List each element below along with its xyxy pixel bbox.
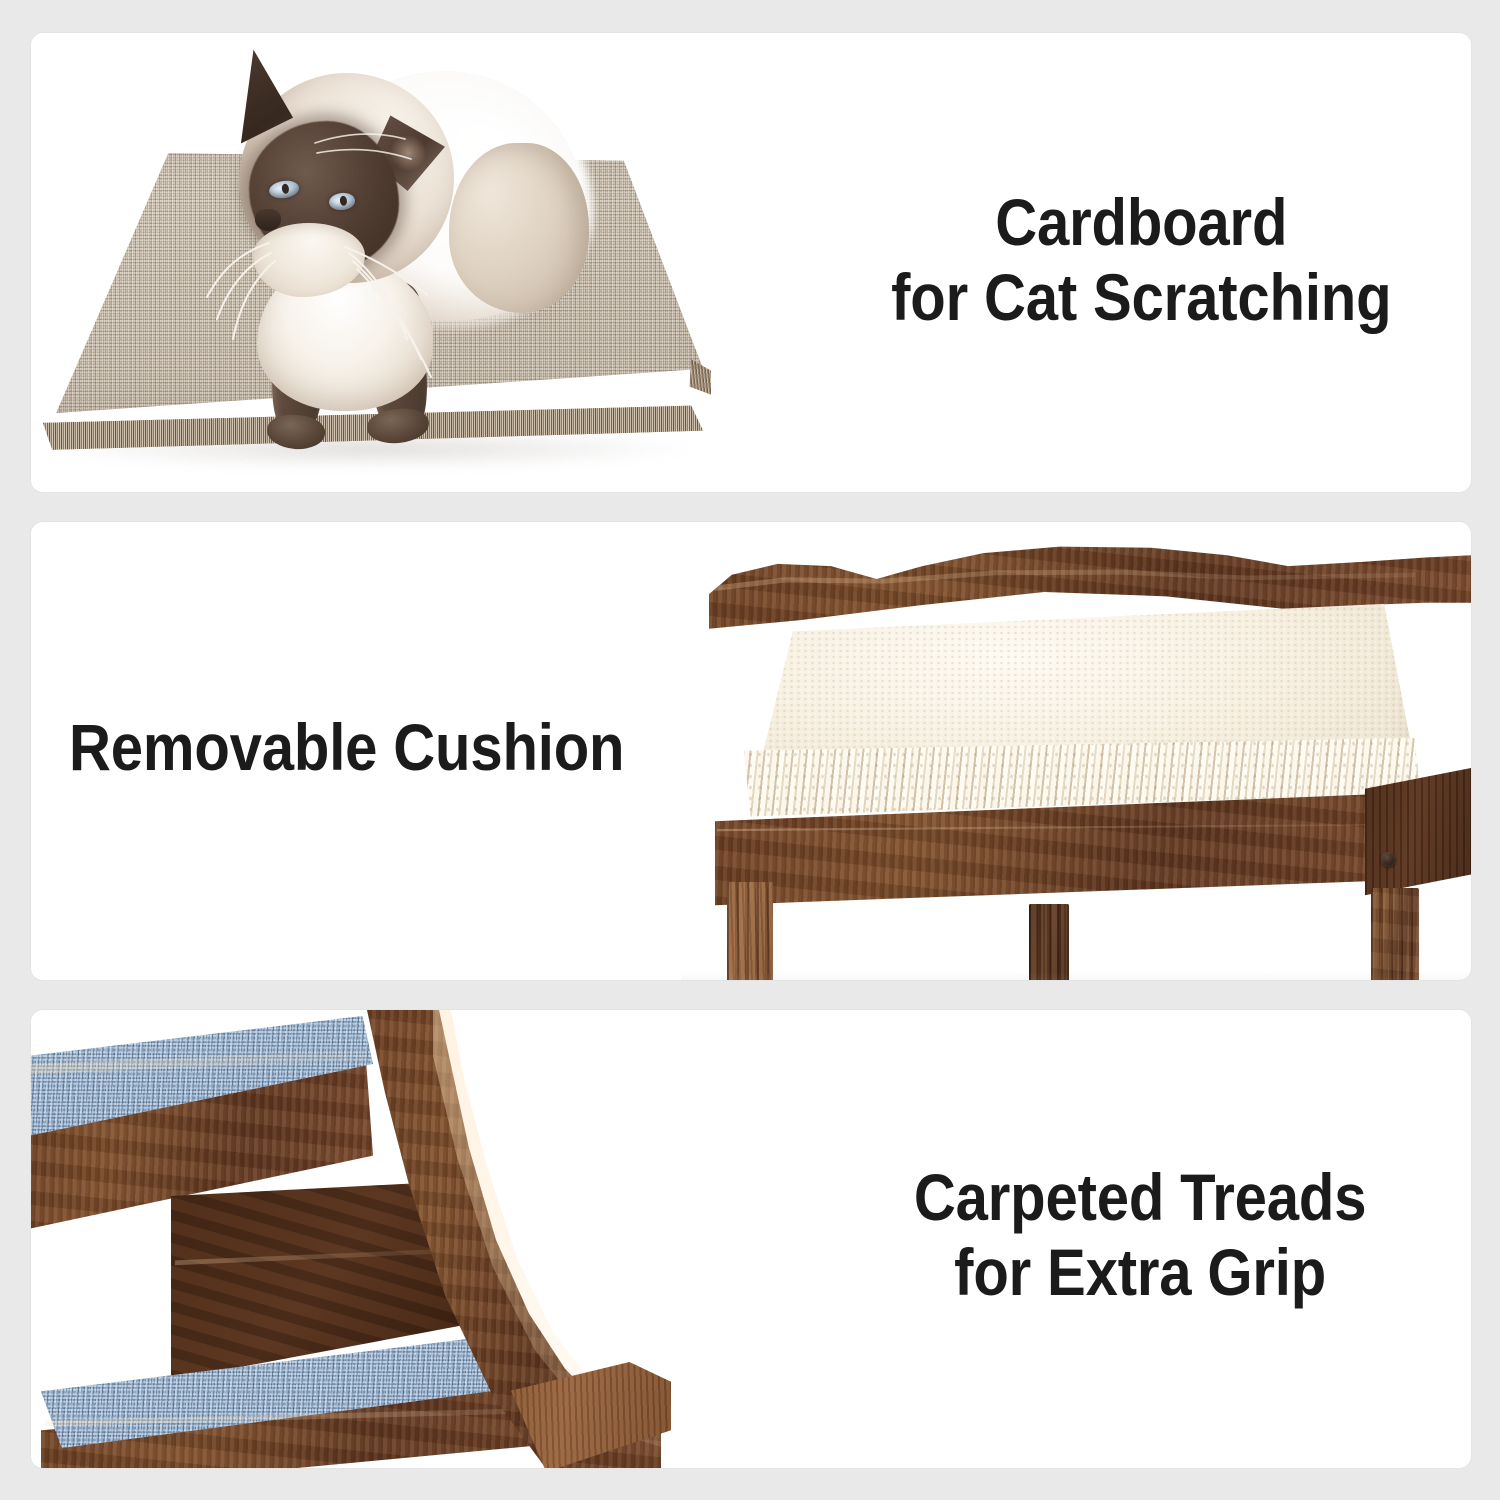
panel-1-caption: Cardboardfor Cat Scratching	[891, 185, 1391, 335]
cat-on-cardboard-scratcher-photo	[31, 33, 731, 493]
cat-figure	[199, 47, 619, 447]
panel-1-caption-line-2: for Cat Scratching	[891, 260, 1391, 334]
cat-nose	[255, 209, 281, 231]
cat-ear-inner	[390, 135, 426, 171]
panel-1-caption-line-1: Cardboard	[995, 185, 1287, 259]
product-feature-collage: Cardboardfor Cat Scratching Removable Cu…	[0, 0, 1500, 1500]
panel-3-caption-line-1: Carpeted Treads	[914, 1160, 1367, 1234]
bed-floor-shadow	[681, 972, 1471, 981]
bed-right-leg	[1371, 888, 1419, 981]
cat-haunch	[449, 143, 589, 313]
wood-pet-bed-with-cushion-photo	[681, 522, 1471, 981]
leg-grain-texture	[1029, 904, 1069, 981]
bed-front-left-leg	[727, 882, 773, 981]
cat-left-paw	[266, 413, 326, 451]
panel-3-caption-line-2: for Extra Grip	[954, 1235, 1326, 1309]
panel-2-caption: Removable Cushion	[69, 710, 624, 785]
bed-rear-leg	[1029, 904, 1069, 981]
cat-right-paw	[365, 406, 430, 446]
cardboard-scratcher-panel: Cardboardfor Cat Scratching	[30, 32, 1472, 493]
leg-grain-texture	[727, 882, 773, 981]
panel-3-caption: Carpeted Treadsfor Extra Grip	[914, 1160, 1367, 1310]
leg-grain-texture	[1371, 888, 1419, 981]
bed-assembly-screw	[1381, 852, 1396, 867]
removable-cushion-panel: Removable Cushion	[30, 521, 1472, 981]
wood-pet-stairs-with-blue-carpet-treads-photo	[31, 1010, 771, 1469]
panel-2-caption-line-1: Removable Cushion	[69, 710, 624, 784]
carpeted-treads-panel: Carpeted Treadsfor Extra Grip	[30, 1009, 1472, 1469]
